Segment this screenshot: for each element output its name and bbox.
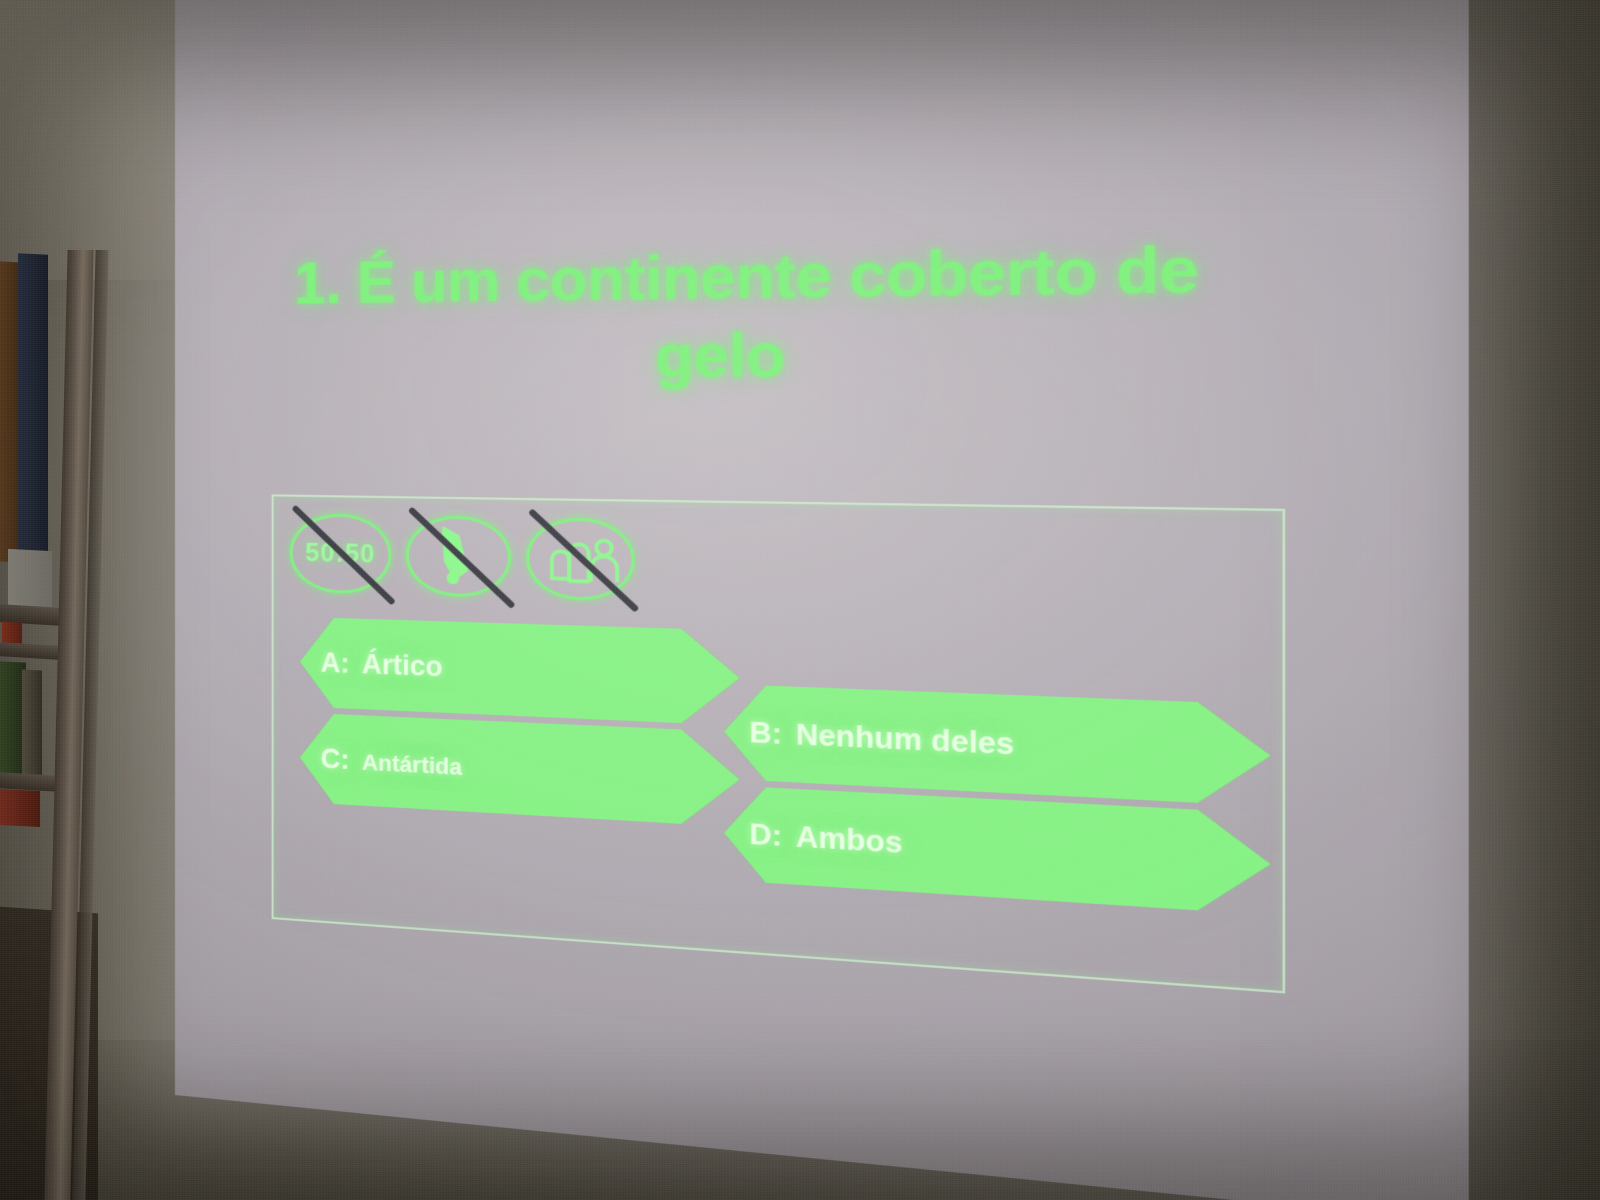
book-spine (0, 789, 40, 827)
lifelines-row: 50:50 (290, 513, 635, 602)
question-title: 1. É um continente coberto de gelo (264, 229, 1238, 397)
answer-text: Ambos (796, 820, 903, 859)
answer-letter: B: (749, 716, 782, 750)
lifeline-ask-the-audience[interactable] (526, 517, 635, 602)
answer-text: Ártico (362, 648, 443, 682)
lifeline-phone-a-friend[interactable] (406, 515, 511, 598)
answer-letter: C: (321, 743, 350, 775)
book-spine (22, 669, 42, 782)
book-spine (8, 549, 52, 611)
answer-label-a: A:Ártico (321, 647, 443, 683)
room-scene: 1. É um continente coberto de gelo 50:50 (0, 0, 1600, 1200)
lifeline-fifty-fifty[interactable]: 50:50 (290, 513, 392, 595)
audience-icon (526, 517, 635, 602)
answer-option-d[interactable]: D:Ambos (702, 784, 1271, 915)
quiz-panel: 50:50 (272, 494, 1286, 993)
answer-option-a[interactable]: A:Ártico (282, 616, 740, 725)
bookshelf (0, 250, 112, 1200)
phone-icon (406, 515, 511, 598)
answer-letter: A: (321, 647, 350, 679)
book-spine (18, 253, 48, 560)
answer-text: Antártida (362, 749, 462, 780)
projected-slide: 1. É um continente coberto de gelo 50:50 (175, 0, 1469, 1200)
answer-option-c[interactable]: C:Antártida (282, 712, 740, 827)
fifty-fifty-icon: 50:50 (290, 513, 392, 595)
answer-letter: D: (749, 817, 782, 851)
shelf-plank (0, 642, 60, 660)
